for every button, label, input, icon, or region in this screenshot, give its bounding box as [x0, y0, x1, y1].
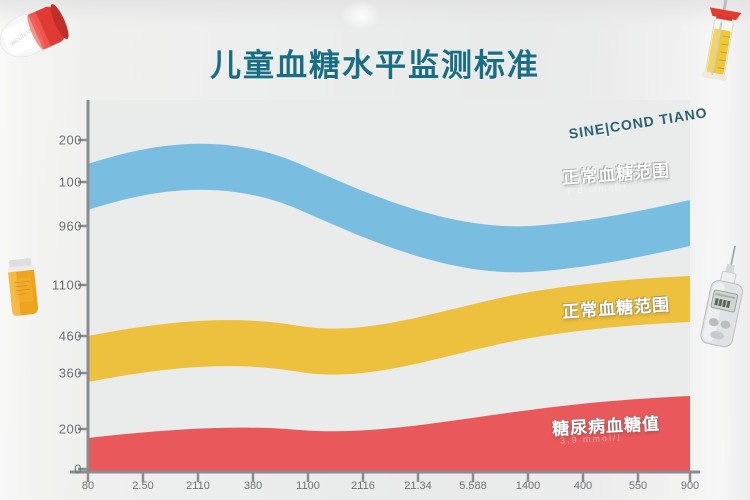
- x-tick-label: 2.50: [132, 480, 153, 492]
- x-tick-label: 2116: [351, 480, 375, 492]
- x-tick-label: 5.588: [459, 480, 487, 492]
- y-tick-label: 360: [30, 366, 82, 381]
- poster-root: VACUTEST: [0, 0, 750, 500]
- x-tick-label: 380: [244, 480, 262, 492]
- y-tick-label: 100: [30, 175, 82, 190]
- x-tick-label: 1100: [296, 480, 320, 492]
- paper-clip-icon: [340, 2, 382, 32]
- x-tick-label: 900: [681, 480, 699, 492]
- x-tick-label: 80: [82, 480, 94, 492]
- x-tick-label: 400: [574, 480, 592, 492]
- area-chart-plot: [0, 100, 750, 500]
- y-tick-label: 1100: [30, 278, 82, 293]
- x-tick-label: 21.34: [404, 480, 432, 492]
- x-tick-label: 2110: [186, 480, 210, 492]
- page-title: 儿童血糖水平监测标准: [0, 40, 750, 85]
- y-axis-labels: 200 100 960 1100 460 360 200 0: [30, 100, 82, 500]
- x-tick-label: 1400: [516, 480, 540, 492]
- y-tick-label: 200: [30, 422, 82, 437]
- x-axis-labels: 80 2.50 2110 380 1100 2116 21.34 5.588 1…: [88, 480, 690, 500]
- y-tick-label: 0: [30, 462, 82, 477]
- x-tick-label: 550: [629, 480, 647, 492]
- y-tick-label: 960: [30, 219, 82, 234]
- y-tick-label: 200: [30, 133, 82, 148]
- y-tick-label: 460: [30, 329, 82, 344]
- chart-container: 200 100 960 1100 460 360 200 0 80 2.50 2…: [0, 100, 750, 500]
